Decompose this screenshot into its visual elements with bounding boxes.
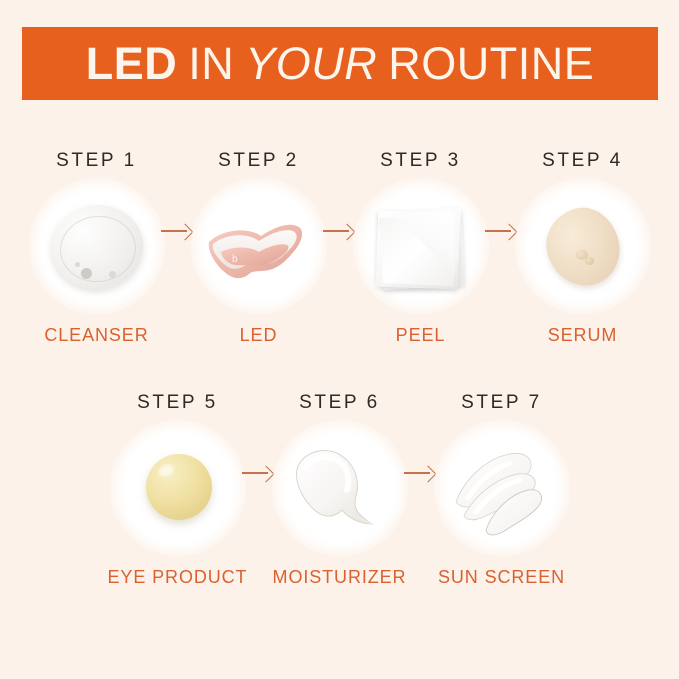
step-label-peel: PEEL [396, 325, 446, 346]
header-banner: LED IN YOUR ROUTINE [22, 27, 658, 100]
page-title: LED IN YOUR ROUTINE [86, 41, 595, 86]
title-word-in: IN [188, 41, 234, 86]
step-cell-eye-product[interactable]: STEP 5 EYE PRODUCT [97, 392, 259, 588]
step-cell-serum[interactable]: STEP 4 SERUM [502, 150, 664, 346]
led-face-mask-icon: b [191, 178, 327, 314]
step-cell-moisturizer[interactable]: STEP 6 MOISTURIZER [259, 392, 421, 588]
step-label-eye-product: EYE PRODUCT [108, 567, 248, 588]
sunscreen-strokes-icon [434, 420, 570, 556]
step-image-sun-screen [434, 420, 570, 556]
step-label-serum: SERUM [548, 325, 618, 346]
folded-peel-cloth-icon [353, 178, 489, 314]
step-cell-led[interactable]: STEP 2 [178, 150, 340, 346]
step-image-peel [353, 178, 489, 314]
step-label-moisturizer: MOISTURIZER [273, 567, 407, 588]
step-number-7: STEP 7 [461, 392, 542, 414]
step-image-cleanser [29, 178, 165, 314]
step-row-1: STEP 1 CLEANSER STEP 2 [0, 150, 679, 346]
svg-text:b: b [232, 254, 238, 265]
step-number-4: STEP 4 [542, 150, 623, 172]
eye-cream-ball-icon [110, 420, 246, 556]
step-cell-cleanser[interactable]: STEP 1 CLEANSER [16, 150, 178, 346]
step-label-cleanser: CLEANSER [44, 325, 148, 346]
cleansing-device-icon [29, 178, 165, 314]
step-cell-peel[interactable]: STEP 3 PEEL [340, 150, 502, 346]
step-label-sun-screen: SUN SCREEN [438, 567, 565, 588]
title-word-routine: ROUTINE [388, 41, 594, 86]
step-image-moisturizer [272, 420, 408, 556]
step-number-6: STEP 6 [299, 392, 380, 414]
step-image-serum [515, 178, 651, 314]
step-number-5: STEP 5 [137, 392, 218, 414]
step-image-led: b [191, 178, 327, 314]
step-image-eye-product [110, 420, 246, 556]
moisturizer-swatch-icon [272, 420, 408, 556]
step-number-2: STEP 2 [218, 150, 299, 172]
step-number-3: STEP 3 [380, 150, 461, 172]
step-label-led: LED [240, 325, 278, 346]
title-word-your: YOUR [245, 41, 377, 86]
step-number-1: STEP 1 [56, 150, 137, 172]
step-row-2: STEP 5 EYE PRODUCT STEP 6 [0, 392, 679, 588]
step-cell-sun-screen[interactable]: STEP 7 [421, 392, 583, 588]
serum-droplet-icon [515, 178, 651, 314]
title-word-led: LED [86, 41, 178, 86]
